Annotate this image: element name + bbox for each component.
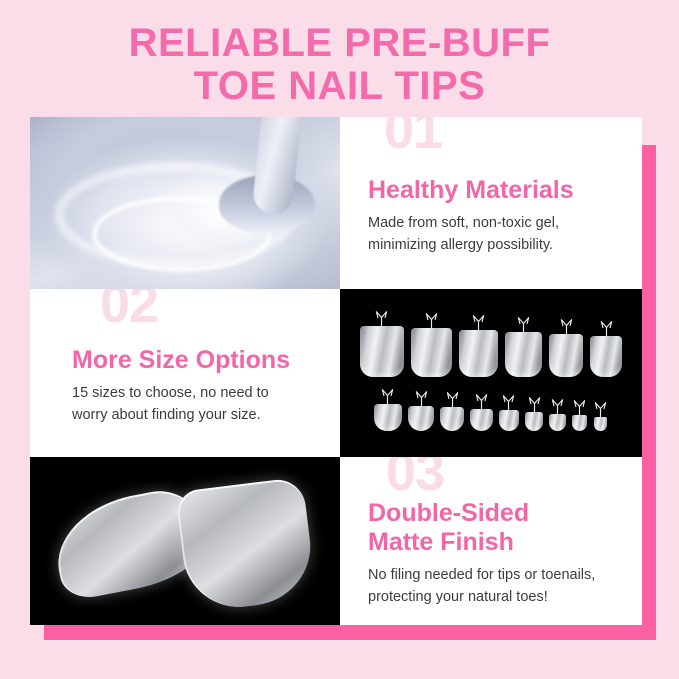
nail-tip-body bbox=[525, 412, 544, 431]
nail-tip bbox=[360, 311, 404, 377]
feature-2-number: 02 bbox=[100, 289, 158, 331]
tip-tab-icon bbox=[559, 319, 574, 335]
nail-tip bbox=[505, 317, 542, 377]
nail-tip bbox=[374, 389, 402, 431]
feature-1-desc-line-2: minimizing allergy possibility. bbox=[368, 235, 620, 257]
feature-3-desc-line-1: No filing needed for tips or toenails, bbox=[368, 565, 620, 587]
feature-1-number: 01 bbox=[384, 117, 442, 157]
nail-tip bbox=[408, 391, 434, 431]
feature-2-desc-line-1: 15 sizes to choose, no need to bbox=[72, 383, 322, 405]
page-title: RELIABLE PRE-BUFF TOE NAIL TIPS bbox=[0, 22, 679, 108]
matte-tip-topside bbox=[175, 477, 317, 614]
matte-tip-topside-edge bbox=[175, 477, 317, 614]
feature-3-title-line-1: Double-Sided bbox=[368, 499, 529, 527]
nail-tip bbox=[470, 394, 492, 431]
tip-tab-icon bbox=[424, 313, 439, 329]
feature-2-image bbox=[340, 289, 642, 457]
feature-grid-panel: 01 Healthy Materials Made from soft, non… bbox=[30, 117, 642, 625]
nail-tip-body bbox=[549, 334, 583, 377]
feature-3-title-line-2: Matte Finish bbox=[368, 528, 514, 556]
nail-tip-body bbox=[459, 330, 498, 377]
feature-2-title: More Size Options bbox=[72, 346, 322, 375]
tip-tab-icon bbox=[501, 395, 516, 411]
nail-tips-small-row bbox=[340, 389, 642, 431]
nail-tip-body bbox=[411, 328, 453, 377]
feature-1-title: Healthy Materials bbox=[368, 176, 620, 205]
tip-tab-icon bbox=[527, 397, 542, 413]
nail-tip bbox=[440, 392, 464, 431]
nail-tip bbox=[549, 399, 566, 431]
feature-2-text: 02 More Size Options 15 sizes to choose,… bbox=[30, 289, 340, 457]
nail-tip-body bbox=[408, 406, 434, 431]
tip-tab-icon bbox=[445, 392, 460, 408]
feature-2-desc-line-2: worry about finding your size. bbox=[72, 405, 322, 427]
nail-tip-body bbox=[505, 332, 542, 377]
nail-tip-body bbox=[440, 407, 464, 431]
tip-tab-icon bbox=[516, 317, 531, 333]
feature-3-desc-line-2: protecting your natural toes! bbox=[368, 587, 620, 609]
tip-tab-icon bbox=[599, 321, 614, 337]
nail-tip-body bbox=[499, 410, 519, 431]
feature-2-description: 15 sizes to choose, no need to worry abo… bbox=[72, 383, 322, 427]
feature-1-text: 01 Healthy Materials Made from soft, non… bbox=[340, 117, 642, 289]
feature-3-title: Double-Sided Matte Finish bbox=[368, 499, 620, 556]
nail-tip-body bbox=[549, 414, 566, 431]
nail-tip bbox=[411, 313, 453, 377]
nail-tip bbox=[590, 321, 622, 377]
tip-tab-icon bbox=[374, 311, 389, 327]
nail-tip-body bbox=[360, 326, 404, 377]
nail-tip bbox=[525, 397, 544, 431]
nail-tip bbox=[499, 395, 519, 431]
nail-tip bbox=[572, 400, 587, 431]
tip-tab-icon bbox=[380, 389, 395, 405]
feature-1-desc-line-1: Made from soft, non-toxic gel, bbox=[368, 213, 620, 235]
nail-tip-body bbox=[572, 415, 587, 431]
tip-tab-icon bbox=[414, 391, 429, 407]
nail-tip bbox=[459, 315, 498, 377]
tip-tab-icon bbox=[593, 402, 608, 418]
nail-tip-body bbox=[470, 409, 492, 431]
tip-tab-icon bbox=[471, 315, 486, 331]
nail-tip-body bbox=[374, 404, 402, 431]
nail-tips-large-row bbox=[340, 311, 642, 377]
nail-tip-body bbox=[590, 336, 622, 377]
feature-3-number: 03 bbox=[386, 457, 444, 499]
feature-3-image bbox=[30, 457, 340, 625]
feature-1-description: Made from soft, non-toxic gel, minimizin… bbox=[368, 213, 620, 257]
nail-tip-body bbox=[594, 417, 607, 431]
nail-tip bbox=[593, 402, 608, 431]
tip-tab-icon bbox=[550, 399, 565, 415]
tip-tab-icon bbox=[474, 394, 489, 410]
tip-tab-icon bbox=[572, 400, 587, 416]
title-line-1: RELIABLE PRE-BUFF bbox=[0, 22, 679, 65]
title-line-2: TOE NAIL TIPS bbox=[0, 65, 679, 108]
feature-1-image bbox=[30, 117, 340, 289]
nail-tip bbox=[549, 319, 583, 377]
feature-3-text: 03 Double-Sided Matte Finish No filing n… bbox=[340, 457, 642, 625]
feature-3-description: No filing needed for tips or toenails, p… bbox=[368, 565, 620, 609]
